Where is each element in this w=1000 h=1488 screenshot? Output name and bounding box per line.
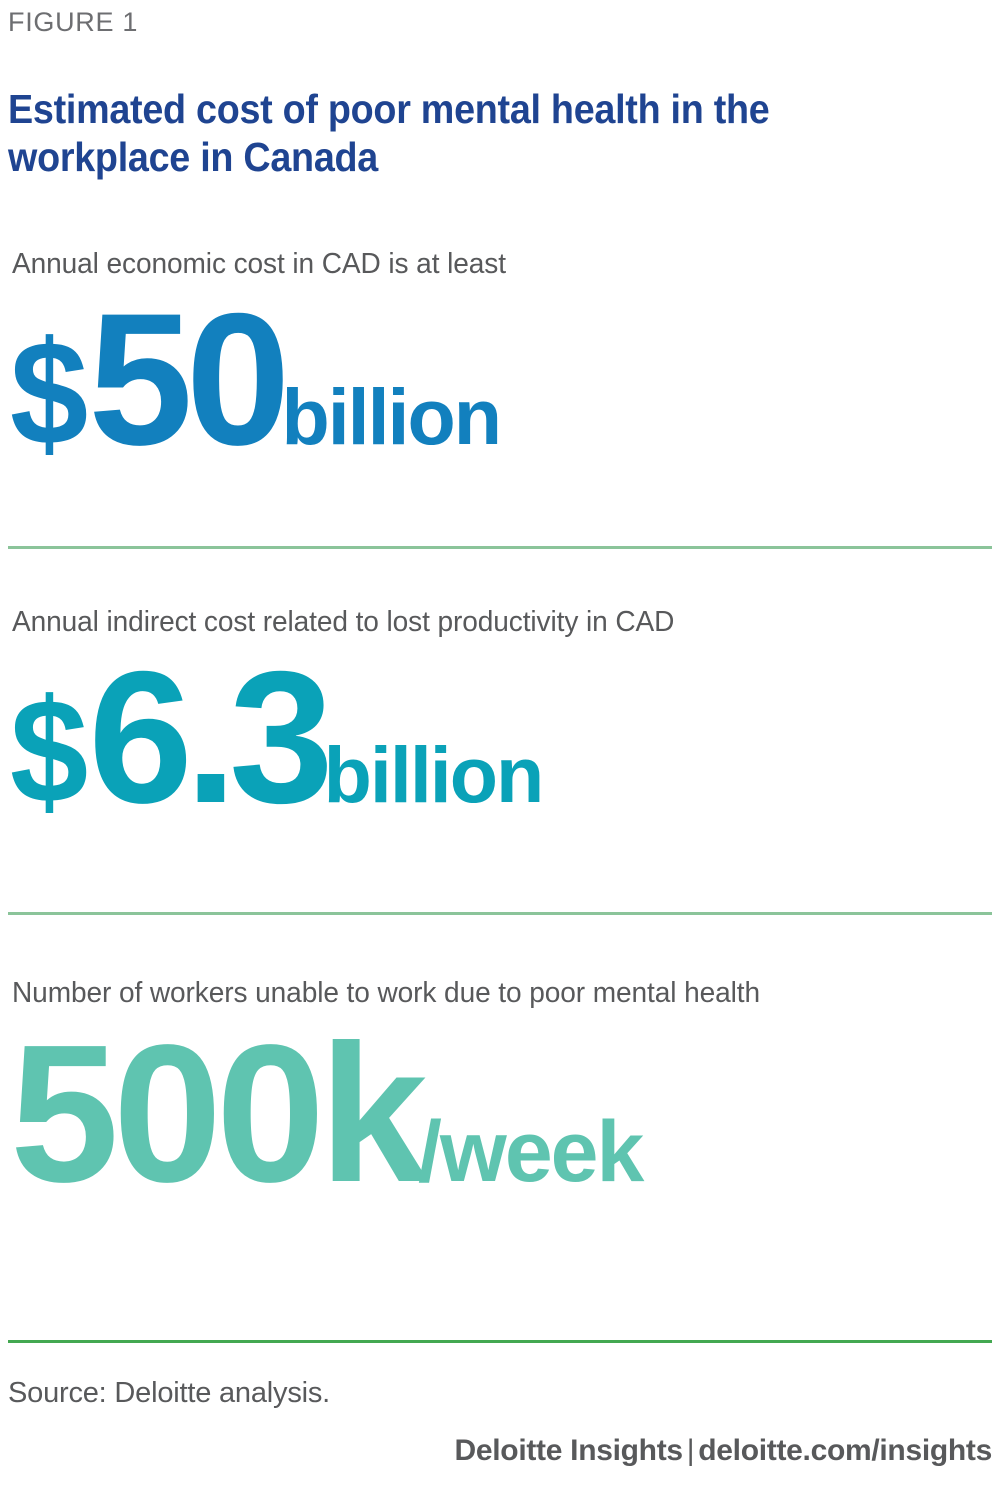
stat-unit: billion	[324, 730, 543, 819]
stat-block-indirect-cost: Annual indirect cost related to lost pro…	[8, 603, 992, 831]
stat-unit: /week	[418, 1104, 642, 1200]
stat-value: $6.3billion	[10, 643, 992, 831]
divider-rule-2	[8, 912, 992, 915]
figure-eyebrow-label: FIGURE 1	[8, 6, 138, 38]
currency-symbol: $	[10, 320, 84, 468]
stat-value: 500k/week	[10, 1016, 992, 1212]
stat-label: Number of workers unable to work due to …	[12, 973, 977, 1014]
stat-block-workers-unable-to-work: Number of workers unable to work due to …	[8, 973, 992, 1212]
stat-label: Annual economic cost in CAD is at least	[12, 245, 977, 283]
stat-amount: 6.3	[88, 632, 325, 842]
figure-container: FIGURE 1 Estimated cost of poor mental h…	[0, 0, 1000, 1488]
stat-unit: billion	[281, 372, 500, 461]
figure-title: Estimated cost of poor mental health in …	[8, 85, 873, 181]
stat-block-annual-economic-cost: Annual economic cost in CAD is at least …	[8, 245, 992, 473]
currency-symbol: $	[10, 678, 84, 826]
divider-rule-footer	[8, 1340, 992, 1343]
stat-amount: 500k	[10, 1004, 422, 1223]
brand-name: Deloitte Insights	[455, 1434, 683, 1467]
stat-amount: 50	[88, 274, 283, 484]
brand-separator: |	[683, 1434, 699, 1467]
stat-label: Annual indirect cost related to lost pro…	[12, 603, 977, 641]
brand-url[interactable]: deloitte.com/insights	[698, 1434, 992, 1467]
brand-line: Deloitte Insights|deloitte.com/insights	[455, 1432, 992, 1470]
stat-value: $50billion	[10, 285, 992, 473]
source-note: Source: Deloitte analysis.	[8, 1375, 330, 1411]
divider-rule-1	[8, 546, 992, 549]
